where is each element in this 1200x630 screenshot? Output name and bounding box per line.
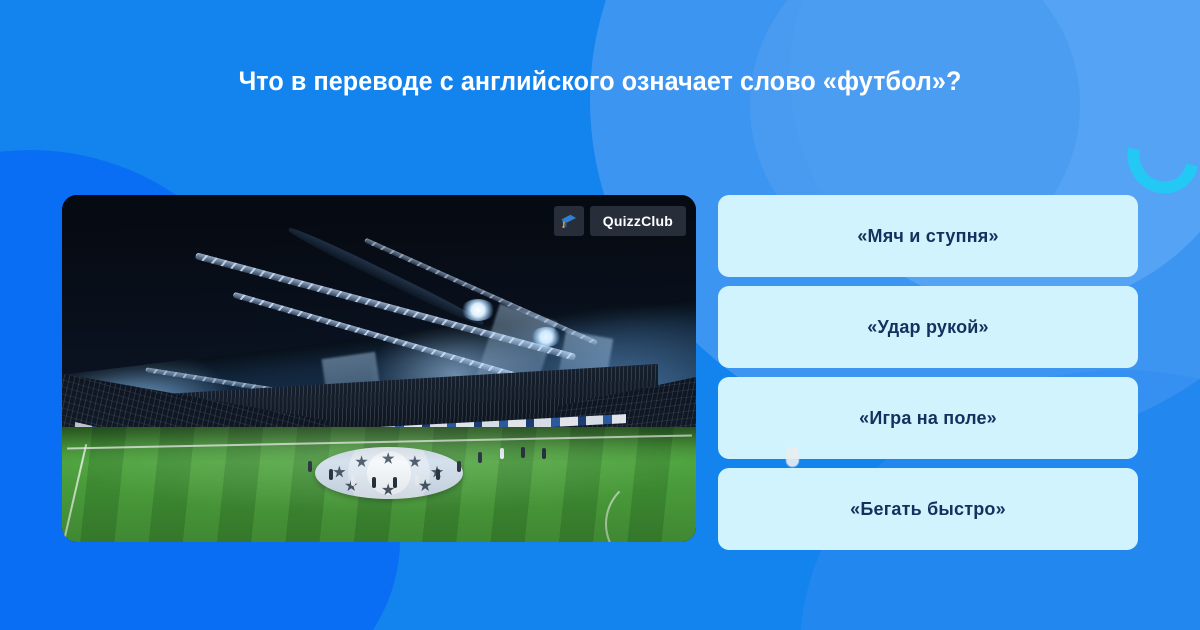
answer-option-4[interactable]: «Бегать быстро» bbox=[718, 468, 1138, 550]
graduation-cap-icon bbox=[554, 206, 584, 236]
question-image-card: QuizzClub bbox=[62, 195, 696, 542]
brand-logo[interactable]: QuizzClub bbox=[554, 206, 686, 236]
pitch-shading bbox=[62, 427, 696, 542]
football-pitch bbox=[62, 427, 696, 542]
stadium-photo bbox=[62, 195, 696, 542]
brand-name: QuizzClub bbox=[590, 206, 686, 236]
answer-option-1[interactable]: «Мяч и ступня» bbox=[718, 195, 1138, 277]
question-title: Что в переводе с английского означает сл… bbox=[42, 66, 1158, 97]
answer-option-label: «Удар рукой» bbox=[867, 317, 989, 338]
answer-option-3[interactable]: «Игра на поле» bbox=[718, 377, 1138, 459]
answer-option-label: «Игра на поле» bbox=[859, 408, 997, 429]
answer-option-label: «Бегать быстро» bbox=[850, 499, 1006, 520]
answer-option-2[interactable]: «Удар рукой» bbox=[718, 286, 1138, 368]
answer-options: «Мяч и ступня» «Удар рукой» «Игра на пол… bbox=[718, 195, 1138, 550]
quiz-card: Что в переводе с английского означает сл… bbox=[0, 0, 1200, 630]
answer-option-label: «Мяч и ступня» bbox=[857, 226, 998, 247]
cursor-pointer bbox=[786, 447, 799, 467]
